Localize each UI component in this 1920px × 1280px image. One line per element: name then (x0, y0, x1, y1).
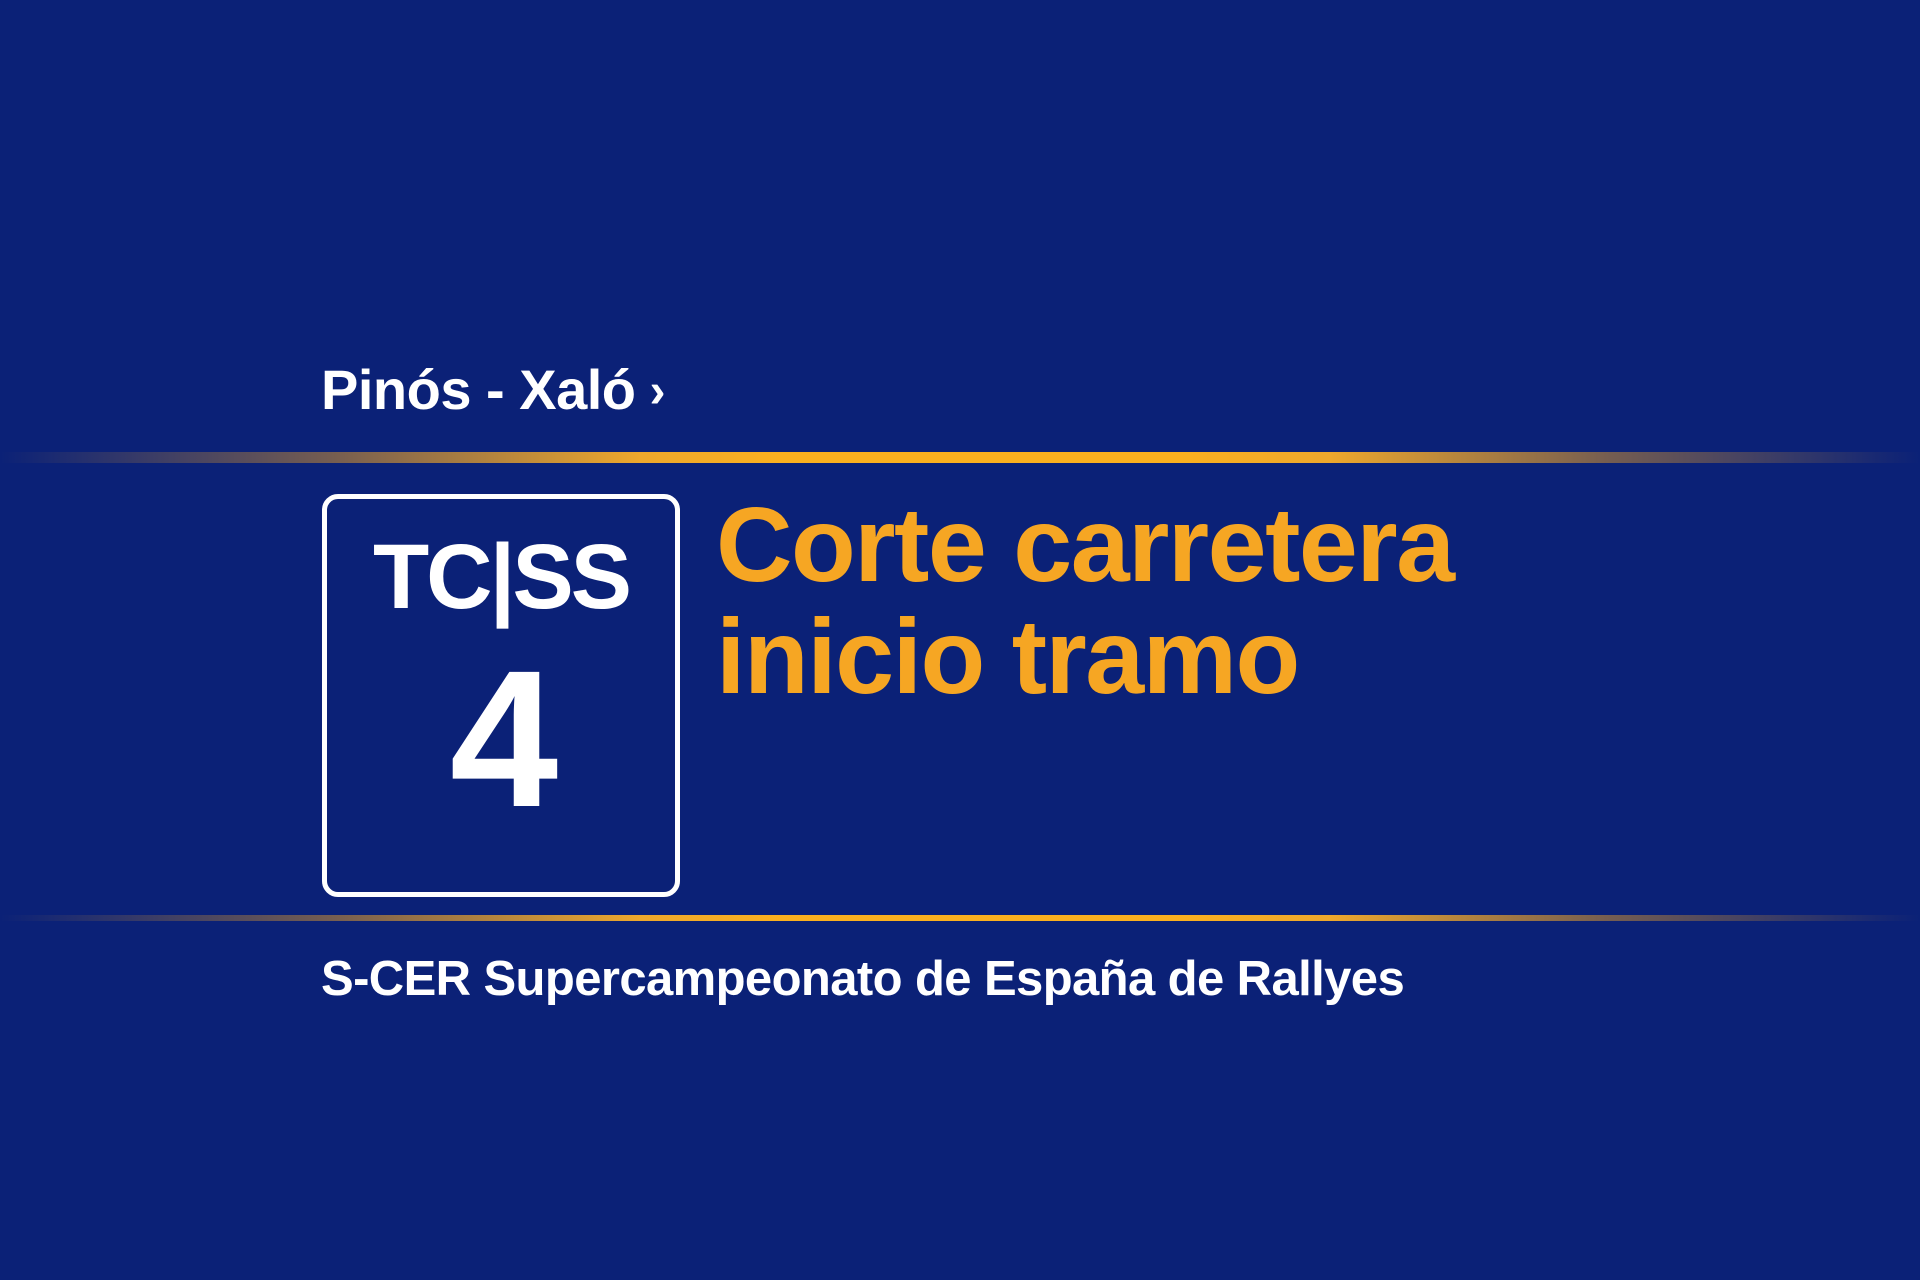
breadcrumb-stage-name: Pinós - Xaló (321, 362, 636, 418)
badge-code-label: TC|SS (373, 531, 629, 623)
headline-line-2: inicio tramo (716, 601, 1816, 713)
stage-badge: TC|SS 4 (322, 494, 680, 897)
badge-number-label: 4 (450, 647, 552, 832)
breadcrumb[interactable]: Pinós - Xaló › (321, 362, 665, 418)
headline-line-1: Corte carretera (716, 489, 1816, 601)
chevron-right-icon: › (650, 368, 666, 416)
championship-series-label: S-CER Supercampeonato de España de Rally… (321, 955, 1404, 1004)
divider-top (0, 452, 1920, 463)
divider-bottom (0, 915, 1920, 921)
rally-stage-card: Pinós - Xaló › TC|SS 4 Corte carretera i… (0, 0, 1920, 1280)
headline: Corte carretera inicio tramo (716, 489, 1816, 714)
